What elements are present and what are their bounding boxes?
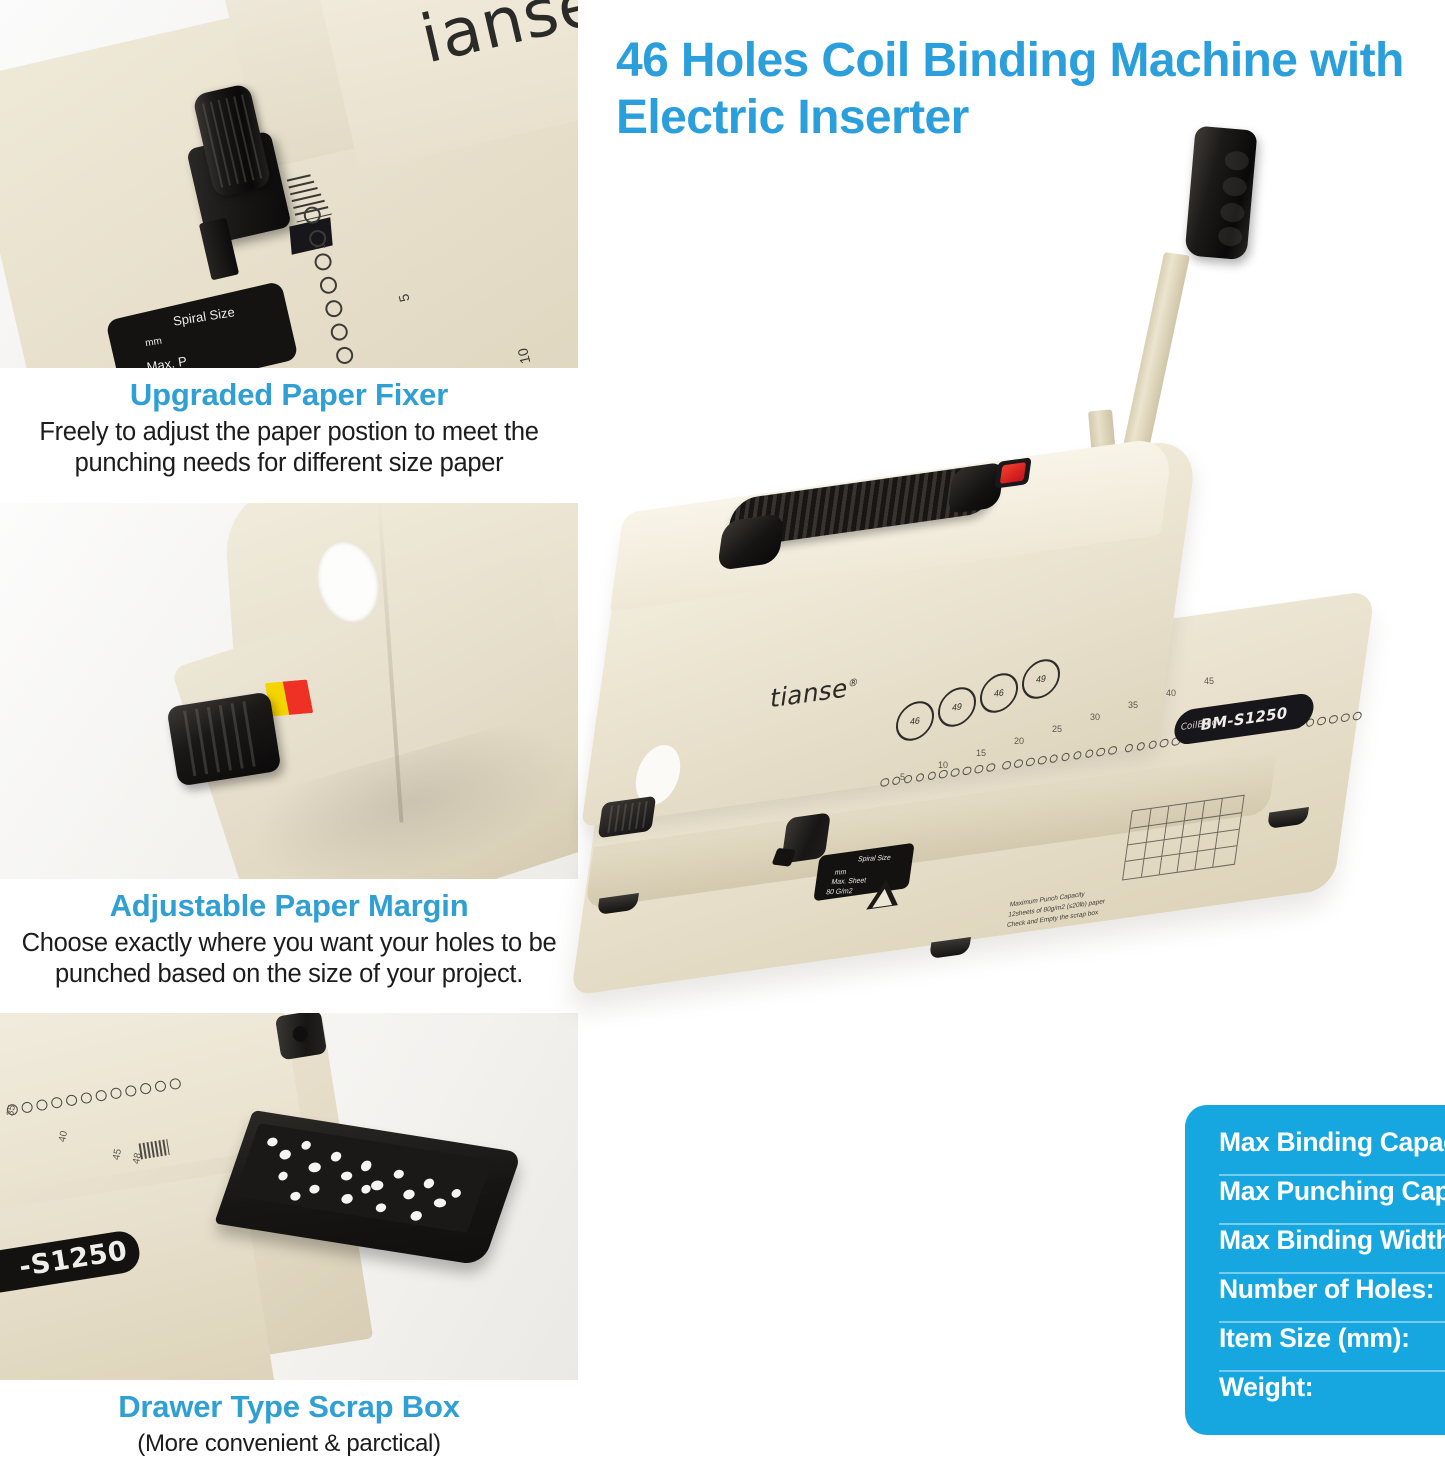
hero-scale-label-5: 5 — [900, 772, 905, 782]
spec-row: Number of Holes: 46 or 49 ( 4:1 ) — [1219, 1274, 1445, 1323]
spec-label: Max Binding Capacity: — [1219, 1127, 1445, 1158]
hero-scale-label-40: 40 — [1166, 688, 1176, 698]
spec-row: Weight: 5.8 KG — [1219, 1372, 1445, 1419]
spec-row: Max Punching Capacity: 12 sheets of 80g(… — [1219, 1176, 1445, 1225]
caption-scrap-box: Drawer Type Scrap Box (More convenient &… — [0, 1380, 578, 1458]
spec-row: Max Binding Capacity: 500 sheets — [1219, 1127, 1445, 1176]
label-80g: 80 G/m2 — [825, 888, 853, 897]
registered-mark: ® — [847, 677, 859, 690]
hero-scale-label-20: 20 — [1014, 736, 1024, 746]
feature-block-paper-fixer: ianse 1 5 10 S — [0, 0, 578, 500]
hero-scale-label-15: 15 — [976, 748, 986, 758]
photo-drawer-scrap-box: 35 40 45 48 — [0, 1013, 578, 1380]
feature-body-paper-margin: Choose exactly where you want your holes… — [0, 924, 578, 990]
scale-label-35: 35 — [5, 1104, 18, 1117]
photo-adjustable-paper-margin — [0, 503, 578, 879]
specifications-panel: Max Binding Capacity: 500 sheets Max Pun… — [1185, 1105, 1445, 1435]
product-column: 46 Holes Coil Binding Machine with Elect… — [578, 0, 1445, 1455]
sticker-mm: mm — [145, 336, 163, 349]
feature-block-paper-margin: Adjustable Paper Margin Choose exactly w… — [0, 503, 578, 1011]
hero-scale-label-10: 10 — [938, 760, 948, 770]
model-badge-prefix: CoilBind — [1178, 705, 1219, 745]
spec-row: Max Binding Width (mm): Below 300 (A4) — [1219, 1225, 1445, 1274]
scale-label-40: 40 — [57, 1130, 70, 1143]
label-max-sheet: Max. Sheet — [831, 877, 867, 886]
feature-body-paper-fixer: Freely to adjust the paper postion to me… — [0, 413, 578, 479]
label-spiral-size: Spiral Size — [857, 854, 891, 863]
scale-label-48: 48 — [131, 1152, 144, 1165]
feature-title-paper-margin: Adjustable Paper Margin — [0, 889, 578, 924]
feature-title-paper-fixer: Upgraded Paper Fixer — [0, 378, 578, 413]
punch-lever-grip-icon — [1184, 126, 1257, 261]
side-knob-icon — [275, 1013, 327, 1060]
photo-upgraded-paper-fixer: ianse 1 5 10 S — [0, 0, 578, 368]
caption-paper-margin: Adjustable Paper Margin Choose exactly w… — [0, 879, 578, 990]
spec-row: Item Size (mm): 375*260*120 — [1219, 1323, 1445, 1372]
hero-scale-label-30: 30 — [1090, 712, 1100, 722]
label-mm: mm — [834, 869, 847, 877]
caption-paper-fixer: Upgraded Paper Fixer Freely to adjust th… — [0, 368, 578, 479]
spec-label: Max Punching Capacity: — [1219, 1176, 1445, 1207]
margin-adjust-lever-icon — [166, 691, 281, 786]
feature-body-scrap-box: (More convenient & parctical) — [0, 1425, 578, 1458]
hero-scale-label-45: 45 — [1204, 676, 1214, 686]
spec-label: Number of Holes: — [1219, 1274, 1445, 1305]
sticker-spiral-size: Spiral Size — [172, 304, 236, 329]
sticker-max: Max. P — [146, 353, 188, 368]
spec-label: Weight: — [1219, 1372, 1445, 1403]
feature-block-scrap-box: 35 40 45 48 — [0, 1013, 578, 1455]
hero-scale-label-25: 25 — [1052, 724, 1062, 734]
spec-label: Item Size (mm): — [1219, 1323, 1445, 1354]
features-column: ianse 1 5 10 S — [0, 0, 578, 1455]
spec-label: Max Binding Width (mm): — [1219, 1225, 1445, 1256]
warning-triangle-icon — [866, 877, 902, 909]
hero-product-image: tianse® 46 49 46 49 5 10 15 20 25 30 35 … — [578, 110, 1445, 1070]
feature-title-scrap-box: Drawer Type Scrap Box — [0, 1390, 578, 1425]
scale-label-45: 45 — [111, 1148, 124, 1161]
hero-scale-label-35: 35 — [1128, 700, 1138, 710]
